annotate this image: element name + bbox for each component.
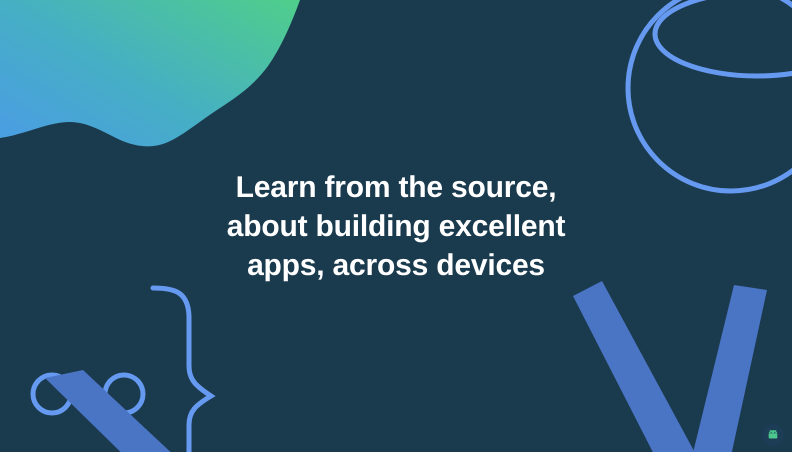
android-mascot-glyph xyxy=(765,427,781,443)
android-mascot-icon xyxy=(762,424,784,446)
presentation-slide: Learn from the source, about building ex… xyxy=(0,0,792,452)
page-title: Learn from the source, about building ex… xyxy=(0,168,792,285)
